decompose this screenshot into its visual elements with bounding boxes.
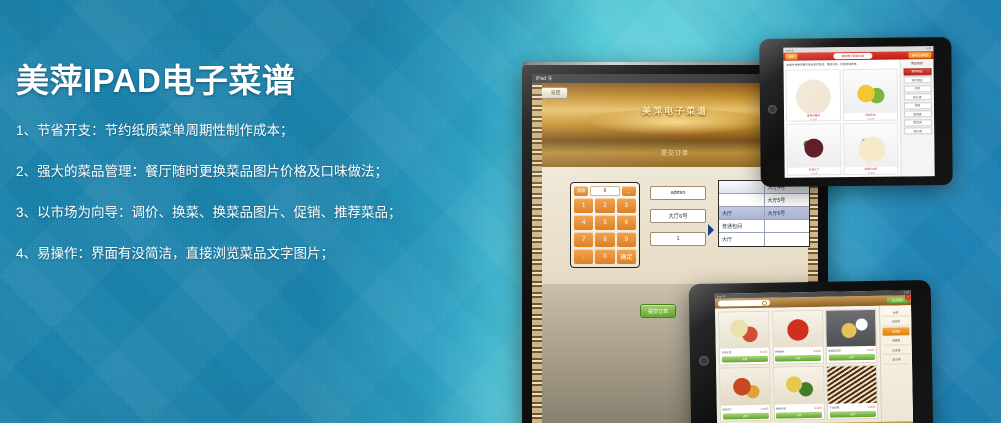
table-cell-name: 大厅5号: [765, 194, 810, 206]
current-order-button[interactable]: 当前已点菜品: [909, 52, 932, 58]
promo-banner: 美萍IPAD电子菜谱 1、节省开支：节约纸质菜单周期性制作成本； 2、强大的菜品…: [0, 0, 1001, 423]
feature-bullet-1: 1、节省开支：节约纸质菜单周期性制作成本；: [16, 122, 444, 141]
dish-card[interactable]: 宫保鸡丁 ￥36元 点菜: [719, 367, 771, 422]
header-title: 美萍电子菜谱点菜: [834, 53, 872, 59]
add-dish-button[interactable]: 点菜: [828, 354, 874, 361]
keypad-key-0[interactable]: 0: [595, 249, 614, 264]
dish-card[interactable]: 黄金南瓜饼 ￥18元 点菜: [825, 309, 877, 364]
sidebar-header: 菜品类别: [911, 61, 923, 65]
keypad-key-4[interactable]: 4: [574, 215, 593, 230]
dish-image: [827, 366, 877, 403]
table-row[interactable]: 大厅: [719, 233, 809, 246]
dish-image: [720, 368, 770, 405]
table-row-selected[interactable]: 大厅 大厅6号: [719, 207, 809, 220]
home-button[interactable]: [768, 105, 777, 114]
back-button[interactable]: 返回: [785, 54, 797, 60]
dish-card[interactable]: 千层蛋糕 ￥26元 点菜: [826, 365, 878, 420]
keypad-backspace-key[interactable]: ←: [622, 186, 636, 196]
dish-meta: 青椒炒蛋 ￥22元: [774, 403, 823, 412]
table-cell-area: 普通包间: [719, 220, 765, 232]
dish-price: ￥36元: [760, 406, 768, 410]
dish-name: 宫保鸡丁: [722, 407, 732, 411]
dish-card[interactable]: 青椒炒蛋 ￥22元 点菜: [773, 366, 825, 421]
keypad-key-2[interactable]: 2: [595, 198, 614, 213]
dish-caption: 鲜果沙拉杯 ￥28元: [845, 167, 898, 175]
table-cell-area: 大厅: [719, 207, 765, 219]
status-time: 9:08: [926, 47, 931, 50]
dish-caption: 彩椒牛柳 ￥46元: [844, 113, 897, 121]
feature-bullet-3: 3、以市场为向导：调价、换菜、换菜品图片、促销、推荐菜品；: [16, 204, 444, 223]
marketing-copy: 美萍IPAD电子菜谱 1、节省开支：节约纸质菜单周期性制作成本； 2、强大的菜品…: [14, 62, 444, 286]
keypad-key-dot[interactable]: .: [574, 249, 593, 264]
dish-name: 青椒炒蛋: [776, 406, 786, 410]
keypad-key-3[interactable]: 3: [617, 198, 636, 213]
sidebar-item-all[interactable]: 全部: [882, 308, 909, 316]
dish-caption: 红豆布丁 ￥22元: [788, 167, 841, 175]
keypad-display-row: 清除 6 ←: [574, 186, 636, 196]
keypad-display: 6: [590, 186, 620, 196]
dish-meta: 宫保鸡丁 ￥36元: [721, 404, 770, 413]
sidebar-item-recommended[interactable]: 推荐菜品: [903, 68, 931, 75]
add-dish-button[interactable]: 点菜: [722, 412, 768, 419]
cart-button[interactable]: 已点菜品 3: [887, 297, 908, 303]
dish-card[interactable]: 彩椒牛柳 ￥46元: [843, 69, 899, 122]
dish-image: [719, 312, 769, 349]
table-row[interactable]: 大厅5号: [719, 194, 809, 207]
dish-price: ￥22元: [814, 405, 822, 409]
status-carrier: iPad 令: [785, 48, 794, 52]
feature-bullet-2: 2、强大的菜品管理：餐厅随时更换菜品图片价格及口味做法；: [16, 163, 444, 182]
keypad-key-7[interactable]: 7: [574, 232, 593, 247]
login-fields: admin 大厅6号 1: [650, 186, 706, 246]
dish-price: ￥32元: [760, 350, 768, 354]
sidebar-item-hot[interactable]: 热炒类: [903, 93, 931, 100]
sidebar-item-cold[interactable]: 凉菜类: [882, 318, 909, 326]
tablet-device-bottomright: iPad 令 9:08 已点菜品 3 干锅花菜 ￥32元: [689, 280, 934, 423]
keypad-key-enter[interactable]: 确定: [617, 249, 636, 264]
dish-image: [774, 367, 824, 404]
app-body: 本图片由美萍餐饮专业软件生成，菜品名称、价格仅供参考。 香辣肉蟹煲 ￥78元: [783, 59, 934, 178]
sidebar-item-drinks[interactable]: 酒水类: [904, 127, 932, 134]
numeric-keypad[interactable]: 清除 6 ← 1 2 3 4 5 6 7 8 9 . 0 确定: [570, 182, 640, 268]
dish-price: ￥58元: [813, 349, 821, 353]
table-cell-name: 大厅6号: [765, 207, 810, 219]
keypad-key-1[interactable]: 1: [574, 198, 593, 213]
table-cell-area: [719, 181, 765, 193]
keypad-grid: 1 2 3 4 5 6 7 8 9 . 0 确定: [574, 198, 636, 264]
sidebar-item-staple[interactable]: 主食类: [883, 346, 910, 354]
dish-image: [773, 311, 823, 348]
table-list[interactable]: 大厅4号 大厅5号 大厅 大厅6号 普通包间 大厅: [718, 180, 810, 247]
dish-image: [826, 310, 876, 347]
dish-image: [787, 70, 840, 114]
cart-badge: 3: [905, 294, 911, 300]
sidebar-item-drinks[interactable]: 酒水类: [883, 356, 910, 364]
field-table-number[interactable]: 大厅6号: [650, 209, 706, 223]
dish-price: ￥22元: [810, 171, 817, 175]
search-input[interactable]: [718, 300, 770, 307]
dish-name: 千层蛋糕: [829, 405, 839, 409]
dish-image: [844, 70, 897, 114]
dish-grid: 干锅花菜 ￥32元 点菜 剁椒鱼头 ￥58元 点菜: [715, 306, 881, 423]
dish-card[interactable]: 干锅花菜 ￥32元 点菜: [718, 311, 770, 366]
add-dish-button[interactable]: 点菜: [775, 355, 821, 362]
dish-image: [844, 124, 897, 168]
page-title: 美萍IPAD电子菜谱: [16, 62, 444, 100]
back-button[interactable]: 返回: [540, 87, 568, 99]
cart-label: 已点菜品: [892, 298, 903, 302]
sidebar-item-cold[interactable]: 凉菜: [903, 85, 931, 92]
sidebar-item-dessert[interactable]: 甜品类: [904, 119, 932, 126]
tablet-device-topright: iPad 令 9:08 返回 美萍电子菜谱点菜 当前已点菜品 本图片由美萍餐饮专…: [759, 37, 953, 187]
dish-name: 干锅花菜: [721, 351, 731, 355]
field-guest-count[interactable]: 1: [650, 232, 706, 246]
dish-card[interactable]: 剁椒鱼头 ￥58元 点菜: [772, 310, 824, 365]
sidebar-item-special[interactable]: 特价菜品: [903, 76, 931, 83]
submit-order-button[interactable]: 提交订单: [640, 304, 676, 318]
keypad-clear-key[interactable]: 清除: [574, 186, 588, 196]
table-row[interactable]: 普通包间: [719, 220, 809, 233]
app-body: 干锅花菜 ￥32元 点菜 剁椒鱼头 ￥58元 点菜: [715, 305, 913, 423]
status-carrier: iPad 令: [536, 75, 552, 82]
dish-caption: 香辣肉蟹煲 ￥78元: [787, 113, 840, 121]
add-dish-button[interactable]: 点菜: [721, 356, 767, 363]
dish-image: [787, 124, 840, 168]
feature-bullet-4: 4、易操作：界面有没简洁，直接浏览菜品文字图片；: [16, 245, 444, 264]
field-username[interactable]: admin: [650, 186, 706, 200]
add-dish-button[interactable]: 点菜: [776, 411, 822, 418]
sidebar-item-hot[interactable]: 热菜类: [882, 327, 909, 335]
sidebar-item-noodles[interactable]: 面食类: [903, 110, 931, 117]
dish-meta: 千层蛋糕 ￥26元: [828, 402, 877, 411]
greek-key-border-left: [532, 83, 542, 423]
dish-price: ￥26元: [867, 404, 875, 408]
category-sidebar: 菜品类别 推荐菜品 特价菜品 凉菜 热炒类 汤类 面食类 甜品类 酒水类: [899, 59, 934, 176]
tablet-bottomright-screen: iPad 令 9:08 已点菜品 3 干锅花菜 ￥32元: [715, 290, 913, 423]
dish-card[interactable]: 鲜果沙拉杯 ￥28元: [843, 123, 899, 176]
dish-price: ￥28元: [867, 170, 874, 174]
home-button[interactable]: [699, 356, 709, 366]
dish-name: 黄金南瓜饼: [828, 349, 841, 353]
dish-card[interactable]: 香辣肉蟹煲 ￥78元: [786, 69, 842, 122]
add-dish-button[interactable]: 点菜: [829, 410, 875, 417]
keypad-key-6[interactable]: 6: [617, 215, 636, 230]
dish-panel: 本图片由美萍餐饮专业软件生成，菜品名称、价格仅供参考。 香辣肉蟹煲 ￥78元: [783, 60, 900, 178]
category-sidebar: 全部 凉菜类 热菜类 汤羹类 主食类 酒水类: [879, 305, 913, 422]
sidebar-item-soup[interactable]: 汤羹类: [883, 337, 910, 345]
table-cell-name: [765, 233, 810, 246]
table-cell-area: 大厅: [719, 233, 765, 246]
tablet-topright-screen: iPad 令 9:08 返回 美萍电子菜谱点菜 当前已点菜品 本图片由美萍餐饮专…: [783, 46, 934, 178]
dish-price: ￥18元: [866, 348, 874, 352]
keypad-key-9[interactable]: 9: [617, 232, 636, 247]
keypad-key-8[interactable]: 8: [595, 232, 614, 247]
table-cell-name: [765, 220, 810, 232]
sidebar-item-soup[interactable]: 汤类: [903, 102, 931, 109]
dish-name: 剁椒鱼头: [775, 350, 785, 354]
dish-price: ￥78元: [810, 117, 817, 121]
dish-card[interactable]: 红豆布丁 ￥22元: [786, 123, 842, 176]
dish-grid: 香辣肉蟹煲 ￥78元 彩椒牛柳 ￥46元: [786, 69, 899, 176]
dish-price: ￥46元: [867, 116, 874, 120]
table-cell-area: [719, 194, 765, 206]
keypad-key-5[interactable]: 5: [595, 215, 614, 230]
